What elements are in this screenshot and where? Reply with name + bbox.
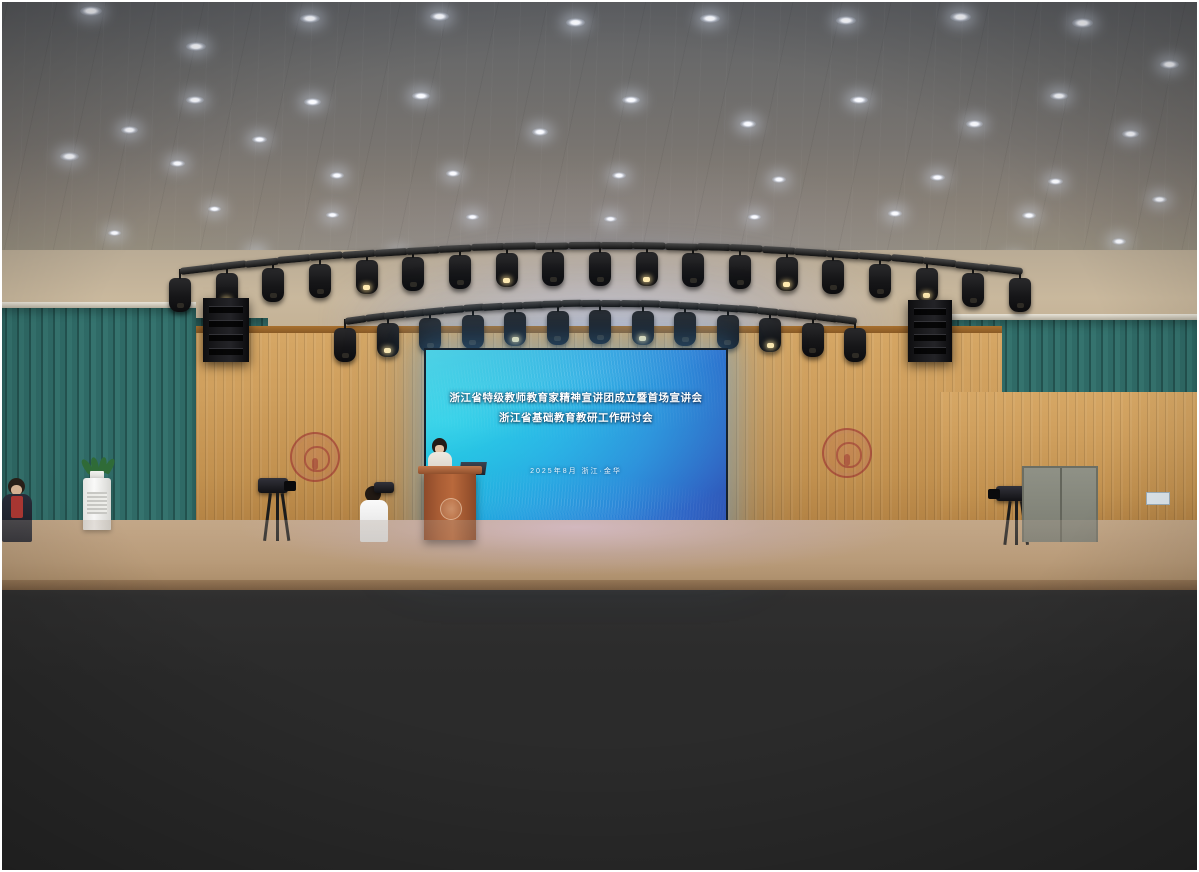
ceiling-downlight — [604, 216, 617, 222]
lighting-truss-front — [568, 242, 602, 249]
ceiling-downlight — [950, 12, 971, 22]
stage-light-fixture — [717, 315, 739, 349]
ceiling-downlight — [304, 98, 321, 106]
ceiling-downlight — [888, 210, 902, 217]
camera-lens — [284, 481, 296, 491]
ceiling-downlight — [622, 96, 640, 104]
camera-body — [374, 482, 394, 493]
blinds-rail-right — [952, 314, 1199, 320]
lighting-truss-front — [374, 247, 409, 256]
ceiling-downlight — [1022, 212, 1036, 219]
lighting-truss-front — [632, 242, 666, 249]
camera-lens — [988, 489, 1000, 499]
ceiling-downlight — [121, 126, 138, 134]
lighting-truss-rear — [502, 302, 524, 310]
blinds-rail-left — [0, 302, 196, 308]
ceiling-downlight — [1122, 130, 1139, 138]
lighting-truss-front — [503, 243, 537, 251]
stage-light-fixture — [496, 253, 518, 287]
stage-light-fixture — [377, 323, 399, 357]
podium-top-surface — [418, 466, 482, 474]
ceiling-downlight — [412, 92, 430, 100]
stage-light-fixture — [589, 252, 611, 286]
stage-light-fixture — [547, 311, 569, 345]
stage-light-fixture — [759, 318, 781, 352]
ceiling-downlight — [108, 230, 121, 236]
ceiling-downlight — [60, 152, 79, 161]
lighting-truss-rear — [482, 303, 504, 311]
conference-hall-photo: 浙江省特级教师教育家精神宣讲团成立暨首场宣讲会 浙江省基础教育教研工作研讨会 2… — [0, 0, 1199, 872]
ceiling-downlight — [930, 174, 945, 181]
ceiling-downlight — [850, 96, 868, 104]
screen-title-line-1: 浙江省特级教师教育家精神宣讲团成立暨首场宣讲会 — [426, 390, 726, 407]
stage-light-fixture — [636, 252, 658, 286]
audience-depth-haze — [0, 520, 1199, 872]
lighting-truss-front — [535, 242, 569, 249]
lighting-truss-rear — [678, 302, 700, 310]
stage-light-fixture — [419, 318, 441, 352]
attendee-scarf — [11, 496, 23, 518]
stage-light-fixture — [729, 255, 751, 289]
stage-light-fixture — [402, 257, 424, 291]
stage-light-fixture — [462, 315, 484, 349]
lighting-truss-rear — [443, 305, 465, 314]
audience-seating-area — [0, 520, 1199, 872]
stage-light-fixture — [1009, 278, 1031, 312]
stage-light-fixture — [449, 255, 471, 289]
ceiling-downlight — [836, 16, 856, 25]
stage-light-fixture — [962, 273, 984, 307]
ceiling-downlight — [466, 214, 479, 220]
ceiling-downlight — [966, 120, 983, 128]
screen-title-block: 浙江省特级教师教育家精神宣讲团成立暨首场宣讲会 浙江省基础教育教研工作研讨会 — [426, 390, 726, 427]
lighting-truss-front — [438, 244, 473, 252]
stage-light-fixture — [309, 264, 331, 298]
ceiling-downlight — [1112, 238, 1126, 245]
lighting-truss-rear — [698, 303, 720, 311]
screen-title-line-2: 浙江省基础教育教研工作研讨会 — [426, 410, 726, 427]
stage-light-fixture — [542, 252, 564, 286]
ceiling-downlight — [740, 120, 756, 128]
ceiling-downlight — [566, 18, 585, 27]
stage-light-fixture — [674, 312, 696, 346]
lighting-truss-rear — [600, 300, 622, 307]
ceiling-downlight — [700, 14, 720, 23]
podium-crest — [440, 498, 462, 520]
ceiling-downlight — [330, 172, 344, 179]
ceiling-downlight — [532, 128, 548, 136]
stage-light-fixture — [334, 328, 356, 362]
lighting-truss-front — [794, 248, 829, 257]
ceiling-downlight — [186, 42, 206, 51]
stage-light-fixture — [504, 312, 526, 346]
ceiling-downlight — [326, 212, 339, 218]
ceiling-downlight — [1050, 92, 1068, 100]
stage-light-fixture — [682, 253, 704, 287]
stage-light-fixture — [589, 310, 611, 344]
lighting-truss-rear — [639, 300, 661, 308]
ceiling-downlight — [170, 160, 185, 167]
ceiling-downlight — [1160, 60, 1179, 69]
ceiling-downlight — [1152, 196, 1167, 203]
wall-sign — [1146, 492, 1170, 505]
ceiling-downlight — [1072, 18, 1093, 28]
ceiling-downlight — [748, 214, 761, 220]
stage-light-fixture — [869, 264, 891, 298]
ceiling-downlight — [252, 136, 267, 143]
stage-light-fixture — [356, 260, 378, 294]
lighting-truss-rear — [580, 300, 602, 307]
ceiling-downlight — [1048, 178, 1063, 185]
stage-light-fixture — [169, 278, 191, 312]
stage-light-fixture — [262, 268, 284, 302]
ceiling-downlight — [208, 206, 221, 212]
lighting-truss-front — [600, 242, 634, 249]
line-array-speaker-left — [203, 298, 249, 362]
ceiling-downlight — [300, 14, 320, 23]
lighting-truss-rear — [521, 301, 543, 309]
stage-light-fixture — [844, 328, 866, 362]
ceiling-downlight — [80, 6, 102, 16]
stage-light-fixture — [822, 260, 844, 294]
ceiling-downlight — [430, 12, 449, 21]
ceiling-downlight — [612, 172, 626, 179]
institution-crest-left — [290, 432, 340, 482]
ceiling-downlight — [772, 176, 786, 183]
lighting-truss-front — [665, 243, 699, 251]
institution-crest-right — [822, 428, 872, 478]
line-array-speaker-right — [908, 300, 952, 362]
ceiling-downlight — [446, 170, 460, 177]
lighting-truss-front — [406, 246, 441, 255]
stage-light-fixture — [632, 311, 654, 345]
ceiling-downlight — [186, 96, 204, 104]
lighting-truss-rear — [541, 300, 563, 308]
stage-light-fixture — [776, 257, 798, 291]
stage-light-fixture — [802, 323, 824, 357]
stage-light-fixture — [916, 268, 938, 302]
